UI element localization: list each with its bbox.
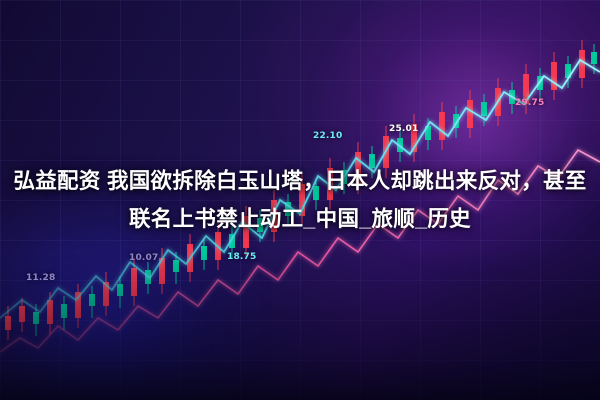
bottom-vignette (0, 250, 600, 400)
chart-value-label: 29.75 (515, 98, 544, 108)
brand-name: 弘益配资 (13, 169, 100, 193)
screenshot-root: 29.7525.0122.1018.7510.0711.28 弘益配资 我国欲拆… (0, 0, 600, 400)
chart-value-label: 25.01 (389, 124, 418, 134)
chart-value-label: 10.07 (129, 253, 158, 263)
candle-body (481, 102, 487, 116)
candle-body (439, 112, 445, 140)
chart-value-label: 18.75 (227, 252, 256, 262)
candle-body (551, 62, 557, 90)
candle-body (591, 52, 597, 64)
headline-text: 我国欲拆除白玉山塔，日本人却跳出来反对，甚至联名上书禁止动工_中国_旅顺_历史 (107, 169, 587, 231)
candle-body (467, 100, 473, 128)
headline-overlay: 弘益配资 我国欲拆除白玉山塔，日本人却跳出来反对，甚至联名上书禁止动工_中国_旅… (0, 162, 600, 238)
chart-value-label: 22.10 (313, 131, 342, 141)
candle-body (579, 50, 585, 78)
chart-value-label: 11.28 (26, 273, 55, 283)
page-title: 弘益配资 我国欲拆除白玉山塔，日本人却跳出来反对，甚至联名上书禁止动工_中国_旅… (8, 162, 592, 238)
